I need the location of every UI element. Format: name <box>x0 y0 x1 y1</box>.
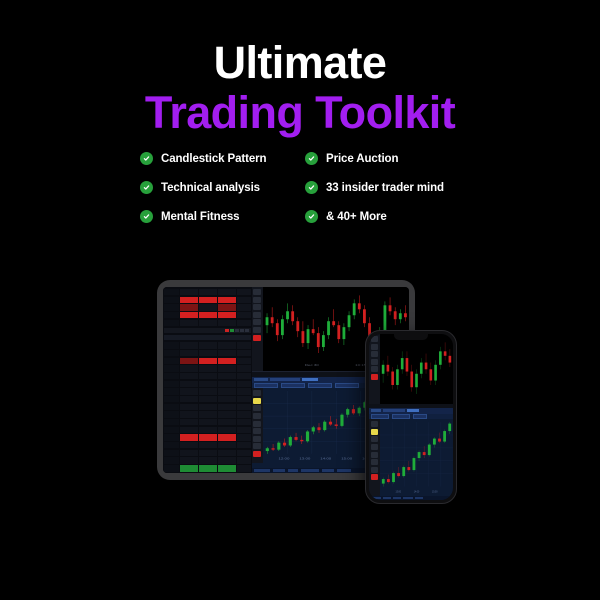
vertical-tool-palette[interactable] <box>369 334 380 404</box>
check-circle-icon <box>305 152 318 165</box>
tool-icon-trendline[interactable] <box>371 436 379 442</box>
device-mockup-stage: Dec 3010:15 <box>0 272 600 512</box>
tool-icon-delete[interactable] <box>371 474 379 480</box>
feature-label: Candlestick Pattern <box>161 153 266 165</box>
feature-item-candlestick-pattern: Candlestick Pattern <box>140 152 305 165</box>
check-circle-icon <box>140 210 153 223</box>
market-data-watchlist[interactable] <box>163 287 252 473</box>
phone-main-chart-body: 13:0014:0015:00 <box>369 419 453 496</box>
tool-icon-shapes[interactable] <box>253 421 261 427</box>
feature-label: & 40+ More <box>326 211 387 223</box>
feature-item-technical-analysis: Technical analysis <box>140 181 305 194</box>
svg-text:15:00: 15:00 <box>341 458 352 461</box>
vertical-tool-palette-secondary[interactable] <box>369 419 380 496</box>
tool-icon-text[interactable] <box>371 467 379 473</box>
phone-top-chart-panel[interactable] <box>369 334 453 404</box>
feature-item-more: & 40+ More <box>305 210 480 223</box>
tool-icon-shapes[interactable] <box>253 319 261 325</box>
tool-icon-text[interactable] <box>253 436 261 442</box>
tool-icon-measure[interactable] <box>253 428 261 434</box>
tool-icon-highlighter[interactable] <box>253 398 261 404</box>
phone-bottom-tabbar[interactable] <box>369 496 453 500</box>
feature-item-insider-trader-mind: 33 insider trader mind <box>305 181 480 194</box>
tool-icon-cursor[interactable] <box>371 421 379 427</box>
tool-icon-highlighter[interactable] <box>371 429 379 435</box>
svg-text:14:00: 14:00 <box>320 458 331 461</box>
vertical-tool-palette[interactable] <box>252 287 263 371</box>
feature-item-price-auction: Price Auction <box>305 152 480 165</box>
tool-icon-fib[interactable] <box>371 359 379 365</box>
feature-list: Candlestick Pattern Price Auction Techni… <box>140 152 480 223</box>
tool-icon-delete[interactable] <box>371 374 379 380</box>
tool-icon-crosshair[interactable] <box>371 344 379 350</box>
promo-poster: Ultimate Trading Toolkit Candlestick Pat… <box>0 0 600 600</box>
feature-item-mental-fitness: Mental Fitness <box>140 210 305 223</box>
svg-text:12:00: 12:00 <box>278 458 289 461</box>
watchlist-toolbar[interactable] <box>164 328 251 333</box>
tool-icon-text[interactable] <box>253 327 261 333</box>
check-circle-icon <box>305 210 318 223</box>
headline-line-1: Ultimate <box>0 38 600 87</box>
tool-icon-cursor[interactable] <box>253 289 261 295</box>
tool-icon-shapes[interactable] <box>371 452 379 458</box>
tool-icon-fib[interactable] <box>253 312 261 318</box>
tool-icon-trendline[interactable] <box>253 304 261 310</box>
tool-icon-cursor[interactable] <box>253 390 261 396</box>
tool-icon-magnet[interactable] <box>253 443 261 449</box>
headline-block: Ultimate Trading Toolkit <box>0 38 600 139</box>
headline-line-2: Trading Toolkit <box>0 87 600 139</box>
feature-label: 33 insider trader mind <box>326 182 444 194</box>
check-circle-icon <box>305 181 318 194</box>
svg-text:14:00: 14:00 <box>414 492 420 494</box>
market-quote-rows <box>163 287 252 326</box>
phone-notch <box>394 334 428 340</box>
svg-text:13:00: 13:00 <box>396 492 402 494</box>
tool-icon-trendline[interactable] <box>371 351 379 357</box>
svg-text:13:00: 13:00 <box>299 458 310 461</box>
check-circle-icon <box>140 181 153 194</box>
feature-label: Technical analysis <box>161 182 260 194</box>
svg-text:Dec 30: Dec 30 <box>304 364 318 367</box>
tool-icon-cursor[interactable] <box>371 336 379 342</box>
phone-screen: 13:0014:0015:00 <box>369 334 453 500</box>
vertical-tool-palette-secondary[interactable] <box>252 388 263 463</box>
watchlist-rows[interactable] <box>163 342 252 473</box>
check-circle-icon <box>140 152 153 165</box>
tool-icon-delete[interactable] <box>253 451 261 457</box>
feature-label: Price Auction <box>326 153 398 165</box>
watchlist-column-header <box>164 335 251 340</box>
phone-main-chart-panel[interactable]: 13:0014:0015:00 <box>369 408 453 500</box>
svg-text:15:00: 15:00 <box>432 492 438 494</box>
tool-icon-measure[interactable] <box>371 459 379 465</box>
tool-icon-trendline[interactable] <box>253 405 261 411</box>
tool-icon-fib[interactable] <box>253 413 261 419</box>
tool-icon-shapes[interactable] <box>371 366 379 372</box>
feature-label: Mental Fitness <box>161 211 239 223</box>
tool-icon-delete[interactable] <box>253 335 261 341</box>
phone-mockup: 13:0014:0015:00 <box>365 330 457 504</box>
tool-icon-crosshair[interactable] <box>253 297 261 303</box>
tool-icon-fib[interactable] <box>371 444 379 450</box>
